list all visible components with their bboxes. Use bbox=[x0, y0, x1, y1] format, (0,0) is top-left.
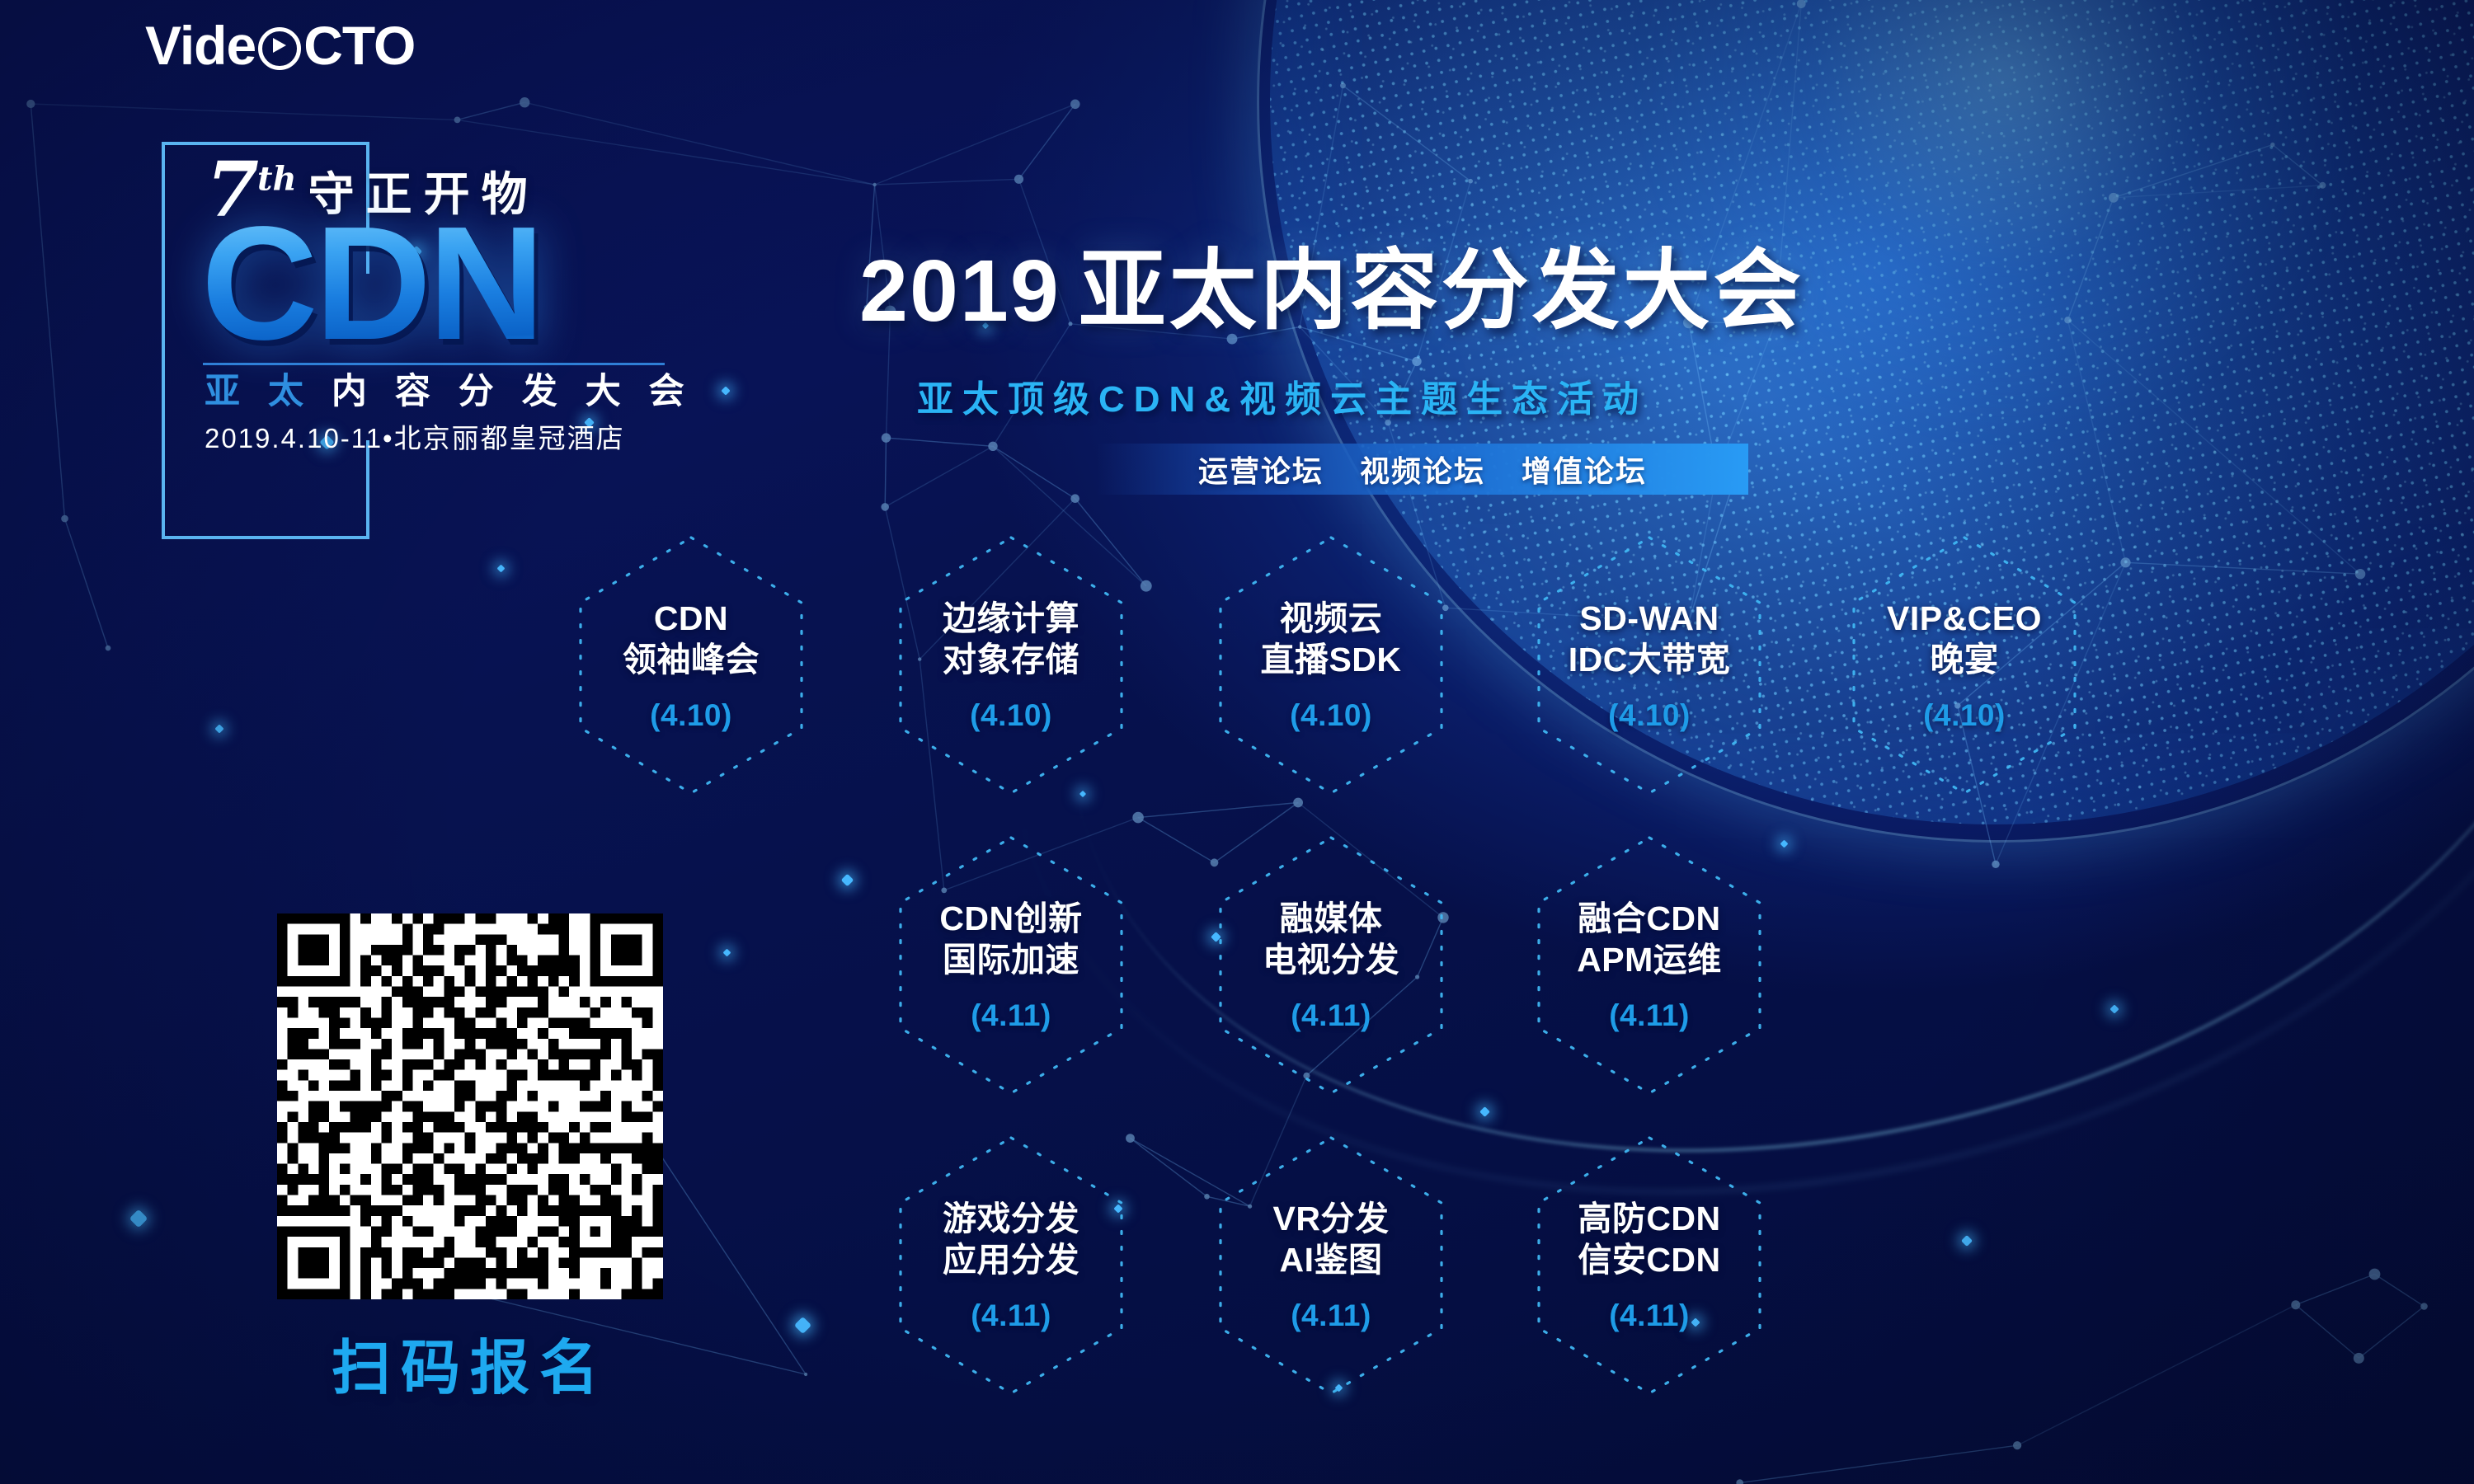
session-hex-2-2[interactable]: CDN创新国际加速(4.11) bbox=[897, 834, 1125, 1097]
session-title: 高防CDN信安CDN bbox=[1578, 1198, 1720, 1280]
session-title-line1: 视频云 bbox=[1260, 598, 1401, 639]
session-hex-3-3[interactable]: VR分发AI鉴图(4.11) bbox=[1217, 1134, 1445, 1397]
session-hex-1-4[interactable]: SD-WANIDC大带宽(4.10) bbox=[1536, 534, 1763, 796]
session-title-line2: IDC大带宽 bbox=[1569, 639, 1731, 680]
session-date: (4.11) bbox=[1609, 998, 1690, 1033]
session-date: (4.10) bbox=[1290, 698, 1372, 733]
registration-label: 扫码报名 bbox=[277, 1319, 663, 1406]
session-title-line1: CDN bbox=[623, 598, 760, 639]
session-title-line1: 融合CDN bbox=[1577, 898, 1722, 939]
session-title-line2: 领袖峰会 bbox=[623, 639, 760, 680]
session-title-line1: CDN创新 bbox=[939, 898, 1082, 939]
session-title-line2: 应用分发 bbox=[943, 1239, 1079, 1280]
session-title-line2: 国际加速 bbox=[939, 939, 1082, 980]
session-date: (4.11) bbox=[971, 1298, 1051, 1333]
session-hex-2-3[interactable]: 融媒体电视分发(4.11) bbox=[1217, 834, 1445, 1097]
session-date: (4.10) bbox=[970, 698, 1052, 733]
session-title: VIP&CEO晚宴 bbox=[1887, 598, 2042, 680]
session-title-line2: APM运维 bbox=[1577, 939, 1722, 980]
registration-block[interactable]: 扫码报名 bbox=[277, 913, 663, 1406]
session-title-line1: VIP&CEO bbox=[1887, 598, 2042, 639]
session-date: (4.11) bbox=[1291, 1298, 1371, 1333]
qr-code-icon[interactable] bbox=[277, 913, 663, 1299]
session-date: (4.11) bbox=[1291, 998, 1371, 1033]
session-title-line2: 对象存储 bbox=[943, 639, 1079, 680]
session-title: SD-WANIDC大带宽 bbox=[1569, 598, 1731, 680]
session-hex-1-1[interactable]: CDN领袖峰会(4.10) bbox=[577, 534, 805, 796]
session-title-line1: 游戏分发 bbox=[943, 1198, 1079, 1239]
session-title-line1: 融媒体 bbox=[1263, 898, 1399, 939]
session-title: CDN创新国际加速 bbox=[939, 898, 1082, 980]
session-title-line1: SD-WAN bbox=[1569, 598, 1731, 639]
session-title: 融媒体电视分发 bbox=[1263, 898, 1399, 980]
session-hex-1-5[interactable]: VIP&CEO晚宴(4.10) bbox=[1851, 534, 2078, 796]
session-date: (4.10) bbox=[1923, 698, 2006, 733]
session-title: 融合CDNAPM运维 bbox=[1577, 898, 1722, 980]
conference-poster: Vide CTO 7th 守正开物 CDN 亚 太 内 容 分 发 大 会 20… bbox=[0, 0, 2474, 1484]
session-title-line2: 电视分发 bbox=[1263, 939, 1399, 980]
session-date: (4.10) bbox=[650, 698, 732, 733]
session-date: (4.11) bbox=[971, 998, 1051, 1033]
session-hex-3-2[interactable]: 游戏分发应用分发(4.11) bbox=[897, 1134, 1125, 1397]
session-date: (4.10) bbox=[1608, 698, 1691, 733]
session-title-line1: VR分发 bbox=[1273, 1198, 1390, 1239]
session-title: 边缘计算对象存储 bbox=[943, 598, 1079, 680]
session-title-line1: 边缘计算 bbox=[943, 598, 1079, 639]
session-hex-1-3[interactable]: 视频云直播SDK(4.10) bbox=[1217, 534, 1445, 796]
session-title: VR分发AI鉴图 bbox=[1273, 1198, 1390, 1280]
session-hex-3-4[interactable]: 高防CDN信安CDN(4.11) bbox=[1536, 1134, 1763, 1397]
session-title-line2: 信安CDN bbox=[1578, 1239, 1720, 1280]
session-title-line2: 直播SDK bbox=[1260, 639, 1401, 680]
session-title-line2: AI鉴图 bbox=[1273, 1239, 1390, 1280]
session-title-line2: 晚宴 bbox=[1887, 639, 2042, 680]
session-title: 视频云直播SDK bbox=[1260, 598, 1401, 680]
qr-code-matrix bbox=[277, 913, 663, 1299]
session-date: (4.11) bbox=[1609, 1298, 1690, 1333]
session-title: 游戏分发应用分发 bbox=[943, 1198, 1079, 1280]
session-title-line1: 高防CDN bbox=[1578, 1198, 1720, 1239]
session-hex-2-4[interactable]: 融合CDNAPM运维(4.11) bbox=[1536, 834, 1763, 1097]
session-title: CDN领袖峰会 bbox=[623, 598, 760, 680]
session-hex-1-2[interactable]: 边缘计算对象存储(4.10) bbox=[897, 534, 1125, 796]
